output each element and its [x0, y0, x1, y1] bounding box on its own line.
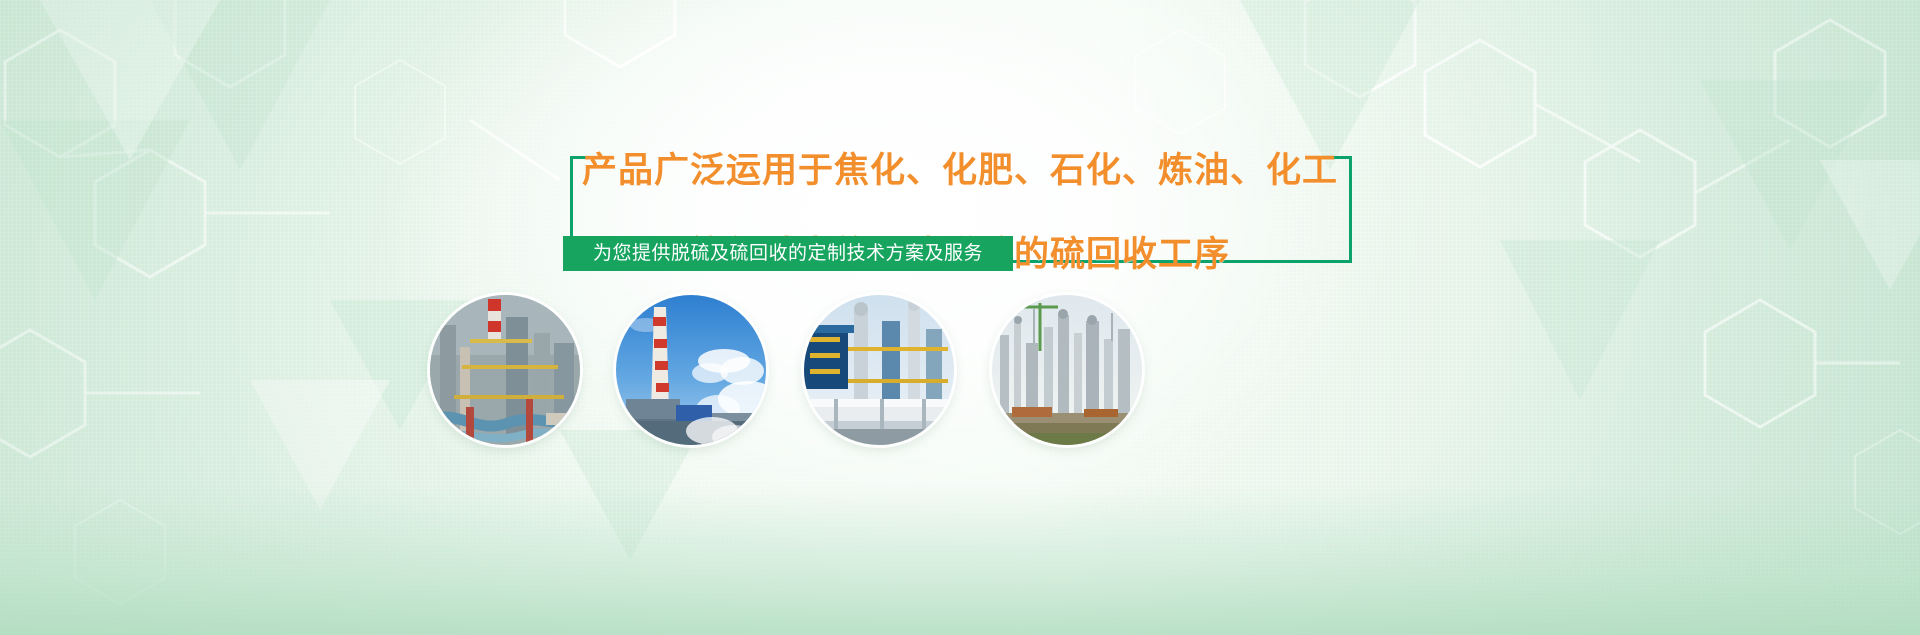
photo-circle-4 [992, 295, 1142, 445]
photo-circle-1 [430, 295, 580, 445]
photo-strip [0, 295, 1920, 455]
headline-line-1: 产品广泛运用于焦化、化肥、石化、炼油、化工 [0, 150, 1920, 192]
photo-circle-2 [616, 295, 766, 445]
headline: 产品广泛运用于焦化、化肥、石化、炼油、化工 等领域中的湿法脱硫的硫回收工序 [0, 108, 1920, 318]
photo-circle-3 [804, 295, 954, 445]
subtitle-banner: 为您提供脱硫及硫回收的定制技术方案及服务 [563, 236, 1013, 271]
banner-stage: 产品广泛运用于焦化、化肥、石化、炼油、化工 等领域中的湿法脱硫的硫回收工序 为您… [0, 0, 1920, 635]
